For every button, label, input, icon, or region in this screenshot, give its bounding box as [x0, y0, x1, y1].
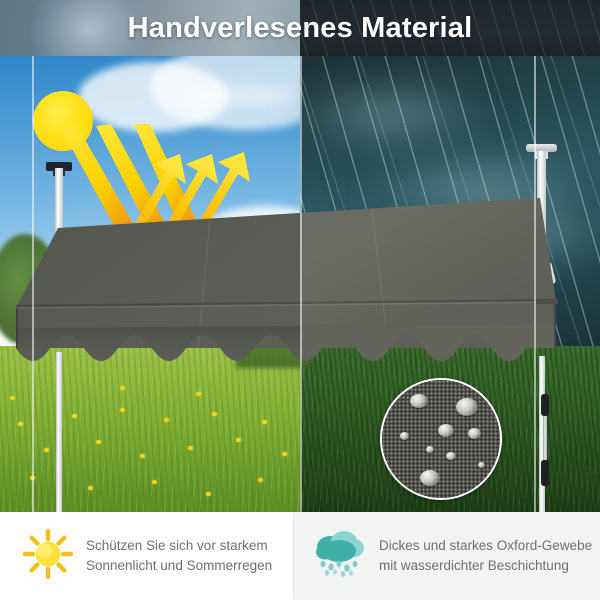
- feature-sun-line1: Schützen Sie sich vor starkem: [86, 536, 272, 556]
- crank-grip: [541, 394, 549, 416]
- feature-sun-text: Schützen Sie sich vor starkem Sonnenlich…: [86, 536, 272, 575]
- left-pole-lower: [56, 352, 62, 512]
- feature-sun-line2: Sonnenlicht und Sommerregen: [86, 556, 272, 576]
- feature-bar: Schützen Sie sich vor starkem Sonnenlich…: [0, 512, 600, 600]
- feature-fabric-line1: Dickes und starkes Oxford-Gewebe: [379, 536, 592, 556]
- feature-waterproof-fabric: Dickes und starkes Oxford-Gewebe mit was…: [293, 512, 600, 600]
- feature-sun-protection: Schützen Sie sich vor starkem Sonnenlich…: [0, 512, 293, 600]
- header-banner: Handverlesenes Material: [0, 0, 600, 56]
- crank-grip: [541, 460, 549, 486]
- feature-divider: [293, 516, 294, 596]
- page-title: Handverlesenes Material: [0, 0, 600, 56]
- sun-icon: [22, 528, 74, 585]
- feature-fabric-text: Dickes und starkes Oxford-Gewebe mit was…: [379, 536, 592, 575]
- waterproof-fabric-closeup: [380, 378, 502, 500]
- product-scene: [0, 56, 600, 512]
- rain-cloud-icon: [311, 527, 367, 586]
- oxford-weave-texture: [382, 380, 500, 498]
- product-feature-image: Handverlesenes Material: [0, 0, 600, 600]
- feature-fabric-line2: mit wasserdichter Beschichtung: [379, 556, 592, 576]
